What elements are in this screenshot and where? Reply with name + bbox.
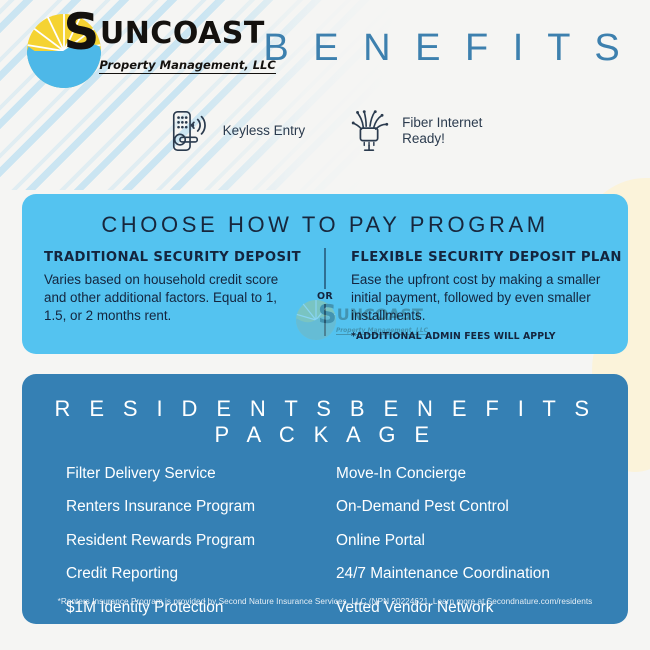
logo-wordmark: SUNCOAST [63, 16, 265, 51]
feature-fiber-internet: Fiber Internet Ready! [347, 108, 482, 154]
traditional-deposit-heading: TRADITIONAL SECURITY DEPOSIT [44, 250, 301, 265]
list-item: On-Demand Pest Control [336, 499, 584, 514]
feature-icons-row: Keyless Entry [0, 108, 650, 154]
logo-initial-s: S [63, 3, 100, 61]
benefits-column-left: Filter Delivery Service Renters Insuranc… [66, 466, 314, 633]
logo-word-rest: UNCOAST [100, 16, 265, 51]
benefits-footnote: *Renters Insurance Program is provided b… [22, 597, 628, 606]
flexible-deposit-body: Ease the upfront cost by making a smalle… [351, 271, 606, 324]
list-item: 24/7 Maintenance Coordination [336, 566, 584, 581]
fiber-optic-cable-icon [347, 108, 393, 154]
list-item: Renters Insurance Program [66, 499, 314, 514]
benefits-column-right: Move-In Concierge On-Demand Pest Control… [314, 466, 584, 633]
residents-benefits-package-panel: R E S I D E N T S B E N E F I T S P A C … [22, 374, 628, 624]
pay-panel-columns: TRADITIONAL SECURITY DEPOSIT Varies base… [44, 250, 606, 342]
list-item: Filter Delivery Service [66, 466, 314, 481]
feature-keyless-entry: Keyless Entry [168, 108, 306, 154]
suncoast-logo: SUNCOAST Property Management, LLC [23, 8, 253, 88]
benefits-panel-title: R E S I D E N T S B E N E F I T S P A C … [52, 396, 598, 448]
choose-how-to-pay-panel: CHOOSE HOW TO PAY PROGRAM TRADITIONAL SE… [22, 194, 628, 354]
logo-subtitle: Property Management, LLC [99, 58, 275, 74]
benefits-columns: Filter Delivery Service Renters Insuranc… [52, 466, 598, 633]
list-item: Resident Rewards Program [66, 533, 314, 548]
traditional-deposit-body: Varies based on household credit score a… [44, 271, 301, 324]
flexible-deposit-heading: FLEXIBLE SECURITY DEPOSIT PLAN [351, 250, 606, 265]
keypad-door-lock-icon [168, 108, 214, 154]
benefits-flyer: SUNCOAST Property Management, LLC B E N … [0, 0, 650, 650]
flexible-deposit-column: FLEXIBLE SECURITY DEPOSIT PLAN Ease the … [325, 250, 606, 342]
or-label: OR [313, 289, 337, 304]
feature-label: Keyless Entry [223, 123, 306, 139]
feature-label: Fiber Internet Ready! [402, 115, 482, 148]
traditional-deposit-column: TRADITIONAL SECURITY DEPOSIT Varies base… [44, 250, 325, 342]
pay-panel-title: CHOOSE HOW TO PAY PROGRAM [44, 212, 606, 238]
list-item: Credit Reporting [66, 566, 314, 581]
list-item: Move-In Concierge [336, 466, 584, 481]
page-title: B E N E F I T S [263, 27, 626, 70]
list-item: Online Portal [336, 533, 584, 548]
admin-fees-note: *ADDITIONAL ADMIN FEES WILL APPLY [351, 331, 606, 342]
page-header: SUNCOAST Property Management, LLC B E N … [0, 0, 650, 96]
